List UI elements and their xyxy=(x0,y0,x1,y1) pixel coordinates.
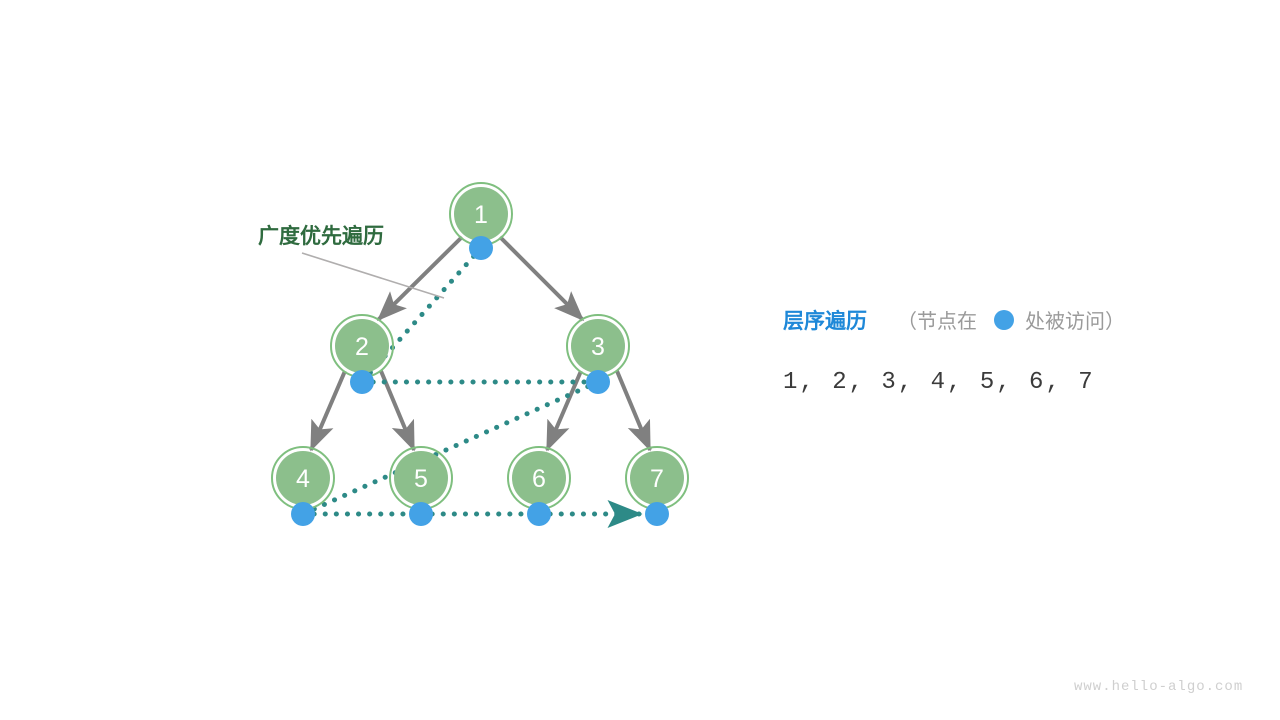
legend-visit-dot-icon xyxy=(994,310,1014,330)
node-label: 1 xyxy=(474,201,488,229)
node-label: 6 xyxy=(532,465,546,493)
visit-dot-icon xyxy=(291,502,315,526)
visit-dot-icon xyxy=(469,236,493,260)
visit-dot-icon xyxy=(586,370,610,394)
tree-node-7[interactable]: 7 xyxy=(626,447,688,526)
node-label: 5 xyxy=(414,465,428,493)
site-watermark: www.hello-algo.com xyxy=(1074,679,1243,695)
node-label: 4 xyxy=(296,465,310,493)
visit-dot-icon xyxy=(409,502,433,526)
node-label: 2 xyxy=(355,333,369,361)
tree-node-1[interactable]: 1 xyxy=(450,183,512,260)
legend-title: 层序遍历 xyxy=(783,309,867,333)
bfs-traversal-diagram: 广度优先遍历 1 2 3 4 xyxy=(0,0,1280,720)
node-label: 3 xyxy=(591,333,605,361)
visit-dot-icon xyxy=(527,502,551,526)
traversal-sequence: 1, 2, 3, 4, 5, 6, 7 xyxy=(783,369,1095,396)
visit-dot-icon xyxy=(350,370,374,394)
legend-panel: 层序遍历 （节点在 处被访问） 1, 2, 3, 4, 5, 6, 7 xyxy=(783,309,1125,396)
visit-dot-icon xyxy=(645,502,669,526)
edge-2-4 xyxy=(311,371,345,450)
edge-1-3 xyxy=(500,237,583,320)
legend-note-close: 处被访问） xyxy=(1025,310,1125,333)
bfs-annotation-label: 广度优先遍历 xyxy=(258,224,384,248)
edge-1-2 xyxy=(378,237,462,320)
node-label: 7 xyxy=(650,465,664,493)
edge-3-7 xyxy=(617,371,650,450)
legend-note-open: （节点在 xyxy=(897,310,977,333)
